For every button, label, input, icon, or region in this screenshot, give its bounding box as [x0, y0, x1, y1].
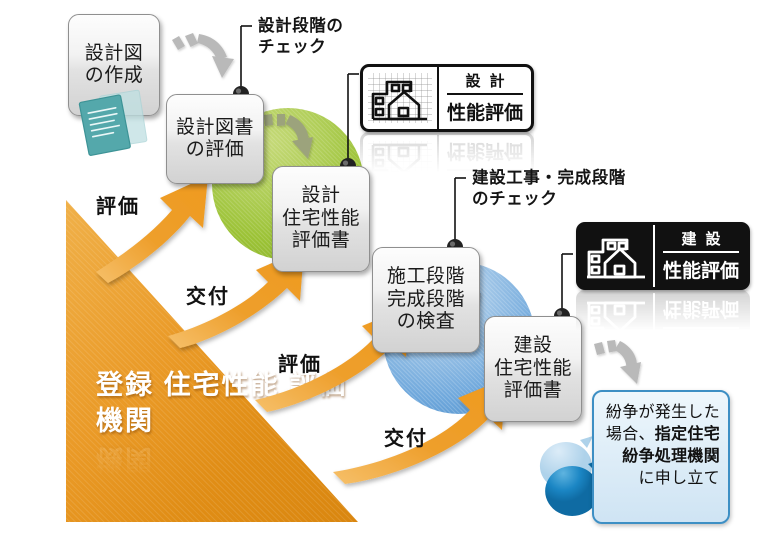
- construction-logo-bottom-text: 性能評価: [663, 251, 739, 283]
- label-delivery-2: 交付: [384, 422, 428, 451]
- construction-performance-evaluation-logo: 建設 性能評価 建設 性能: [576, 222, 750, 290]
- label-delivery-1: 交付: [186, 280, 230, 309]
- dispute-line-1: 紛争が発生した: [602, 402, 720, 424]
- design-performance-evaluation-logo: 設計 性能評価 設計: [360, 64, 534, 132]
- box-construction-performance-certificate[interactable]: 建設 住宅性能 評価書: [484, 316, 582, 422]
- arrow-step-1: [172, 33, 234, 78]
- agency-line-2: 住宅性能: [164, 370, 280, 400]
- dispute-resolution-box[interactable]: 紛争が発生した 場合、指定住宅 紛争処理機関 に申し立て: [592, 390, 730, 524]
- box-construction-inspect-line-3: の検査: [387, 311, 465, 333]
- box-design-doc-eval-line-1: 設計図書: [176, 117, 254, 139]
- box-construction-cert-line-1: 建設: [494, 335, 572, 357]
- box-design-cert-line-3: 評価書: [282, 230, 360, 252]
- arrow-step-4: [594, 340, 641, 384]
- box-construction-inspect-line-2: 完成段階: [387, 289, 465, 311]
- dispute-line-3: 紛争処理機関: [602, 446, 720, 468]
- annotation-construction-stage-check-line-1: 建設工事・完成段階: [472, 168, 626, 189]
- annotation-construction-stage-check-line-2: のチェック: [472, 189, 626, 210]
- leader-construction-stage-check: [447, 178, 466, 255]
- box-construction-cert-line-2: 住宅性能: [494, 358, 572, 380]
- dispute-line-2-plain: 場合、: [606, 426, 655, 443]
- construction-logo-reflection: 建設 性能評価: [576, 290, 750, 358]
- house-solid-icon: [579, 225, 655, 287]
- box-design-document-evaluation[interactable]: 設計図書 の評価: [166, 94, 264, 184]
- design-logo-top-text: 設計: [447, 70, 532, 93]
- dispute-line-3-bold: 紛争処理機関: [622, 448, 720, 465]
- design-logo-bottom-text: 性能評価: [447, 93, 523, 125]
- annotation-design-stage-check-line-2: チェック: [258, 37, 344, 58]
- label-evaluation-2: 評価: [278, 348, 322, 377]
- dispute-line-2: 場合、指定住宅: [602, 424, 720, 446]
- box-construction-inspect-line-1: 施工段階: [387, 266, 465, 288]
- annotation-design-stage-check-line-1: 設計段階の: [258, 16, 344, 37]
- box-construction-inspection[interactable]: 施工段階 完成段階 の検査: [372, 247, 480, 353]
- dispute-line-2-bold: 指定住宅: [655, 426, 720, 443]
- box-design-doc-eval-line-2: の評価: [176, 139, 254, 161]
- diagram-canvas: 登録 住宅性能 評価機関 登録 住宅性能 評価機関: [0, 0, 770, 538]
- annotation-construction-stage-check: 建設工事・完成段階 のチェック: [472, 168, 626, 211]
- construction-logo-top-text: 建設: [663, 228, 748, 251]
- construction-logo-text: 建設 性能評価: [655, 225, 747, 287]
- box-design-performance-certificate[interactable]: 設計 住宅性能 評価書: [272, 166, 370, 272]
- box-construction-cert-line-3: 評価書: [494, 380, 572, 402]
- box-design-cert-line-1: 設計: [282, 185, 360, 207]
- box-design-draft-line-1: 設計図: [85, 43, 144, 65]
- box-design-cert-line-2: 住宅性能: [282, 208, 360, 230]
- annotation-design-stage-check: 設計段階の チェック: [258, 16, 344, 59]
- label-evaluation-1: 評価: [96, 190, 140, 219]
- design-logo-plate: 設計 性能評価: [360, 64, 534, 132]
- agency-line-1: 登録: [96, 370, 154, 400]
- agency-label: 登録 住宅性能 評価機関 登録 住宅性能 評価機関: [96, 368, 362, 440]
- construction-logo-plate: 建設 性能評価: [576, 222, 750, 290]
- design-logo-text: 設計 性能評価: [439, 67, 531, 129]
- blueprint-document-icon: [76, 88, 152, 160]
- house-on-grid-icon: [363, 67, 439, 129]
- leader-design-stage-check: [233, 26, 252, 102]
- leader-construction-logo: [554, 254, 573, 324]
- dispute-line-4: に申し立て: [602, 468, 720, 490]
- box-design-draft-line-2: の作成: [85, 65, 144, 87]
